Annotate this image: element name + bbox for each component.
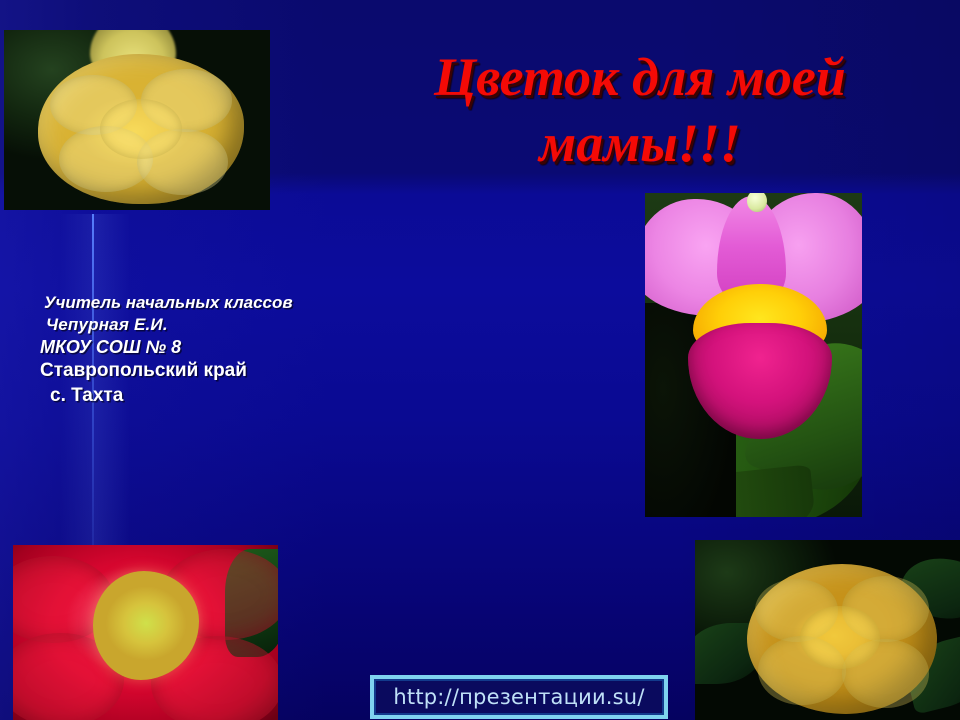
slide-title: Цветок для моей мамы!!! bbox=[330, 44, 950, 176]
rose-bloom-shape bbox=[747, 564, 937, 714]
author-line-school: МКОУ СОШ № 8 bbox=[36, 336, 366, 358]
author-line-region: Ставропольский край bbox=[36, 358, 366, 383]
presentation-slide: Цветок для моей мамы!!! Учитель начальны… bbox=[0, 0, 960, 720]
photo-red-flower-bottom-left bbox=[13, 545, 278, 720]
author-line-position: Учитель начальных классов bbox=[36, 292, 366, 314]
photo-yellow-rose-top-left bbox=[4, 30, 270, 210]
rose-petal-inner bbox=[800, 606, 880, 669]
author-line-village: с. Тахта bbox=[36, 383, 366, 408]
source-url-text: http://презентации.su/ bbox=[393, 685, 644, 709]
rose-petal-inner bbox=[100, 99, 182, 159]
source-url-badge[interactable]: http://презентации.su/ bbox=[370, 675, 668, 719]
photo-yellow-rose-bottom-right bbox=[695, 540, 960, 720]
photo-orchid-right bbox=[645, 193, 862, 517]
author-info-block: Учитель начальных классов Чепурная Е.И. … bbox=[36, 292, 366, 408]
author-line-name: Чепурная Е.И. bbox=[36, 314, 366, 336]
rose-bloom-shape bbox=[38, 54, 244, 204]
